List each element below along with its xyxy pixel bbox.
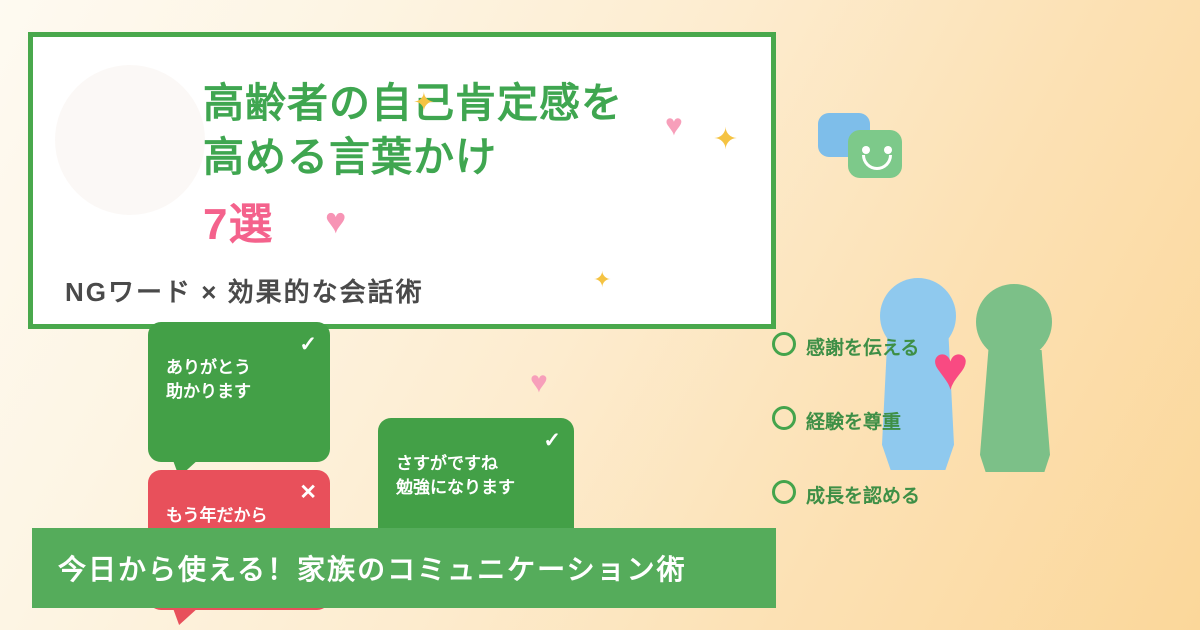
- bubble-text: さすがですね 勉強になります: [396, 454, 515, 496]
- heart-icon: ♥: [665, 111, 683, 141]
- sparkle-icon: ✦: [593, 269, 611, 291]
- title-line-2: 高める言葉かけ: [203, 133, 741, 181]
- circle-checkbox-icon[interactable]: [772, 480, 796, 504]
- check-icon: ✓: [543, 427, 561, 456]
- sparkle-icon: ✦: [413, 89, 435, 115]
- check-icon: ✓: [299, 331, 317, 360]
- heart-icon: ♥: [530, 368, 548, 398]
- chat-bubble-green: [848, 130, 902, 178]
- heart-icon: ♥: [325, 203, 346, 239]
- title-card: 高齢者の自己肯定感を 高める言葉かけ 7選 NGワード × 効果的な会話術 ✦ …: [28, 32, 776, 329]
- checklist-item[interactable]: 経験を尊重: [772, 406, 1032, 432]
- bottom-banner: 今日から使える！家族のコミュニケーション術: [32, 528, 776, 608]
- checklist-item[interactable]: 成長を認める: [772, 480, 1032, 506]
- smiley-eye-left: [862, 146, 870, 154]
- circle-checkbox-icon[interactable]: [772, 332, 796, 356]
- circle-checkbox-icon[interactable]: [772, 406, 796, 430]
- checklist-item-label: 成長を認める: [806, 481, 920, 508]
- smiley-eye-right: [884, 146, 892, 154]
- bubble-text: ありがとう 助かります: [166, 358, 251, 400]
- sparkle-icon: ✦: [713, 125, 738, 155]
- card-subtitle: NGワード × 効果的な会話術: [65, 272, 424, 309]
- bubble-tail: [171, 608, 198, 625]
- title-line-1: 高齢者の自己肯定感を: [203, 79, 741, 127]
- banner-text: 今日から使える！家族のコミュニケーション術: [32, 548, 687, 588]
- chat-smiley-icon: [818, 113, 900, 185]
- speech-bubble-thanks: ありがとう 助かります ✓: [148, 322, 330, 462]
- checklist-item-label: 経験を尊重: [806, 407, 901, 434]
- poster-canvas: 高齢者の自己肯定感を 高める言葉かけ 7選 NGワード × 効果的な会話術 ✦ …: [0, 0, 1200, 630]
- checklist-item-label: 感謝を伝える: [806, 333, 919, 360]
- checklist-item[interactable]: 感謝を伝える: [772, 332, 1032, 358]
- close-icon: ✕: [299, 479, 317, 508]
- title-count-badge: 7選: [203, 188, 273, 252]
- checklist: 感謝を伝える 経験を尊重 成長を認める: [772, 332, 1032, 554]
